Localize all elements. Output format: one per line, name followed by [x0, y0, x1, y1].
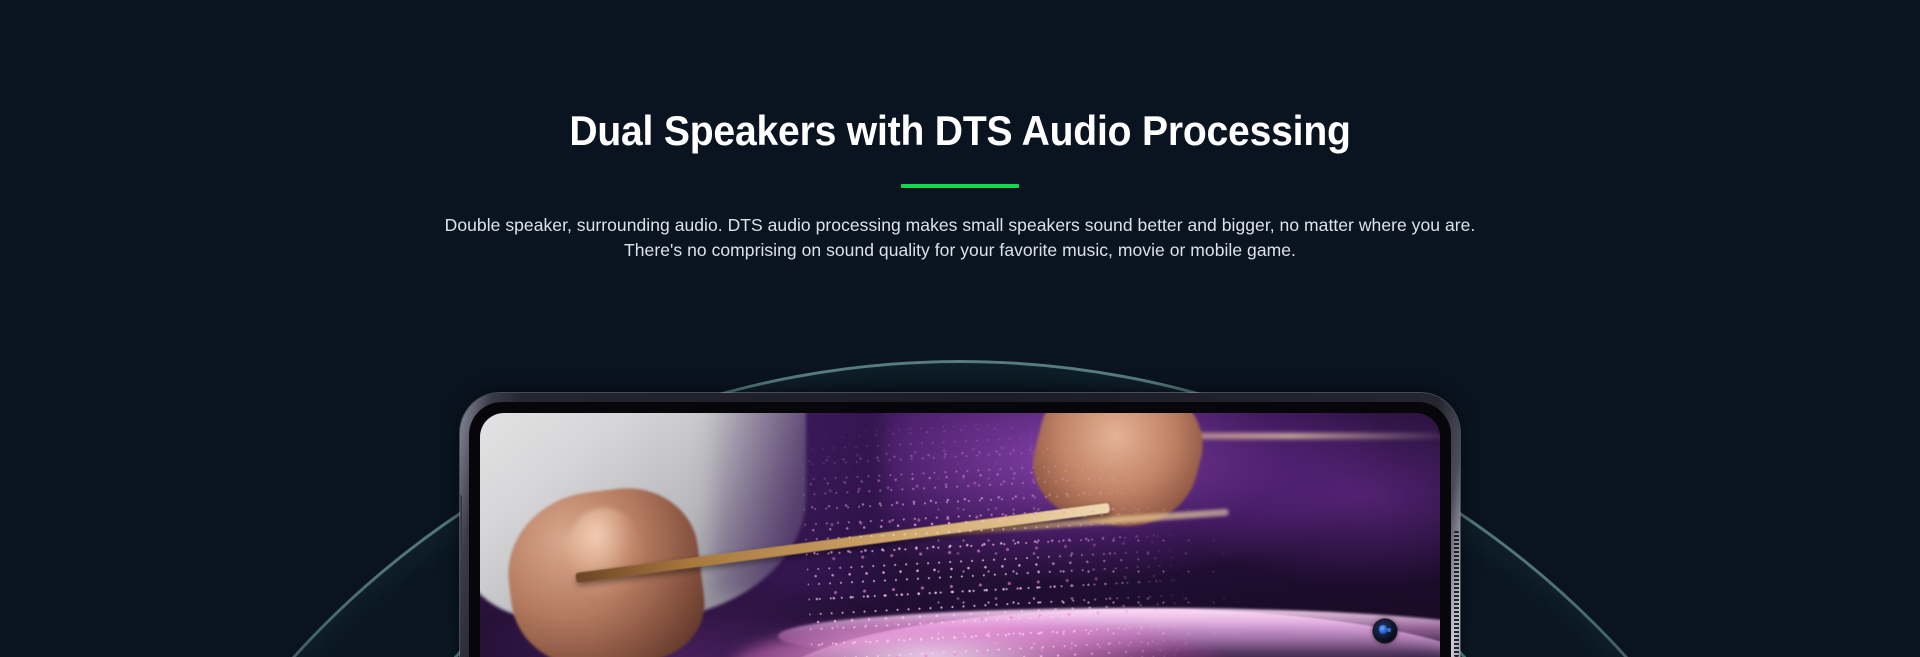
description-line-2: There's no comprising on sound quality f… — [0, 238, 1920, 263]
drummer-near-hand-highlight — [566, 508, 643, 598]
section-description: Double speaker, surrounding audio. DTS a… — [0, 213, 1920, 263]
front-camera-icon — [1374, 620, 1396, 642]
phone-bezel — [469, 402, 1451, 657]
camera-lens-reflection — [1387, 628, 1391, 633]
screen-video-drummer — [480, 413, 1440, 657]
camera-lens — [1379, 625, 1386, 634]
accent-divider — [901, 184, 1019, 188]
phone-mockup — [460, 393, 1460, 657]
phone-frame — [460, 393, 1460, 657]
page-title: Dual Speakers with DTS Audio Processing — [67, 108, 1853, 154]
water-splash-particles-secondary — [922, 430, 1306, 657]
phone-screen — [480, 413, 1440, 657]
description-line-1: Double speaker, surrounding audio. DTS a… — [0, 213, 1920, 238]
speaker-grille-icon — [1454, 531, 1459, 657]
copy-block: Dual Speakers with DTS Audio Processing … — [0, 0, 1920, 263]
promo-section: Dual Speakers with DTS Audio Processing … — [0, 0, 1920, 657]
power-button — [460, 495, 462, 551]
